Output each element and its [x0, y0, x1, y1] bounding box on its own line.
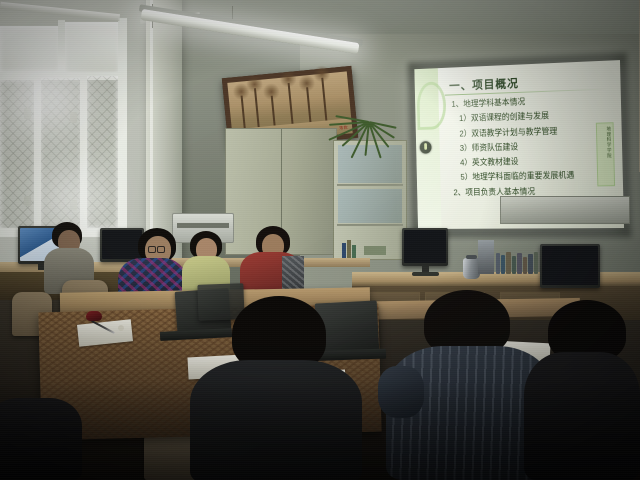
computer-monitor-right-2 — [540, 244, 600, 288]
slide-bullet: 5）地理学科面临的重要发展机遇 — [453, 171, 617, 182]
meeting-room-photo: 落款 一、项目概况 — [0, 0, 640, 480]
slide-side-note: 地理科学学院 — [596, 122, 615, 186]
pen-cap[interactable] — [118, 325, 124, 331]
slide-bullet: 1）双语课程的创建与发展 — [452, 110, 616, 123]
slide-bullet: 1、地理学科基本情况 — [451, 94, 615, 108]
computer-monitor-right — [402, 228, 448, 266]
slide-bullet: 2）双语教学计划与教学管理 — [452, 125, 616, 138]
slide-swirl-decoration — [416, 81, 446, 130]
slide-bullet: 2、项目负责人基本情况 — [453, 186, 617, 196]
slide-bullet-list: 1、地理学科基本情况 1）双语课程的创建与发展 2）双语教学计划与教学管理 3）… — [451, 94, 617, 203]
printer-secondary — [500, 196, 630, 224]
monitor-base — [412, 272, 439, 276]
slide-bullet: 4）英文教材建设 — [453, 155, 617, 167]
slide-bullet: 3）师资队伍建设 — [452, 140, 616, 152]
spider-plant — [330, 118, 410, 188]
red-mouse[interactable] — [86, 311, 102, 321]
counter-canister — [478, 240, 494, 274]
counter-books — [496, 252, 542, 274]
slide-title: 一、项目概况 — [449, 75, 519, 93]
